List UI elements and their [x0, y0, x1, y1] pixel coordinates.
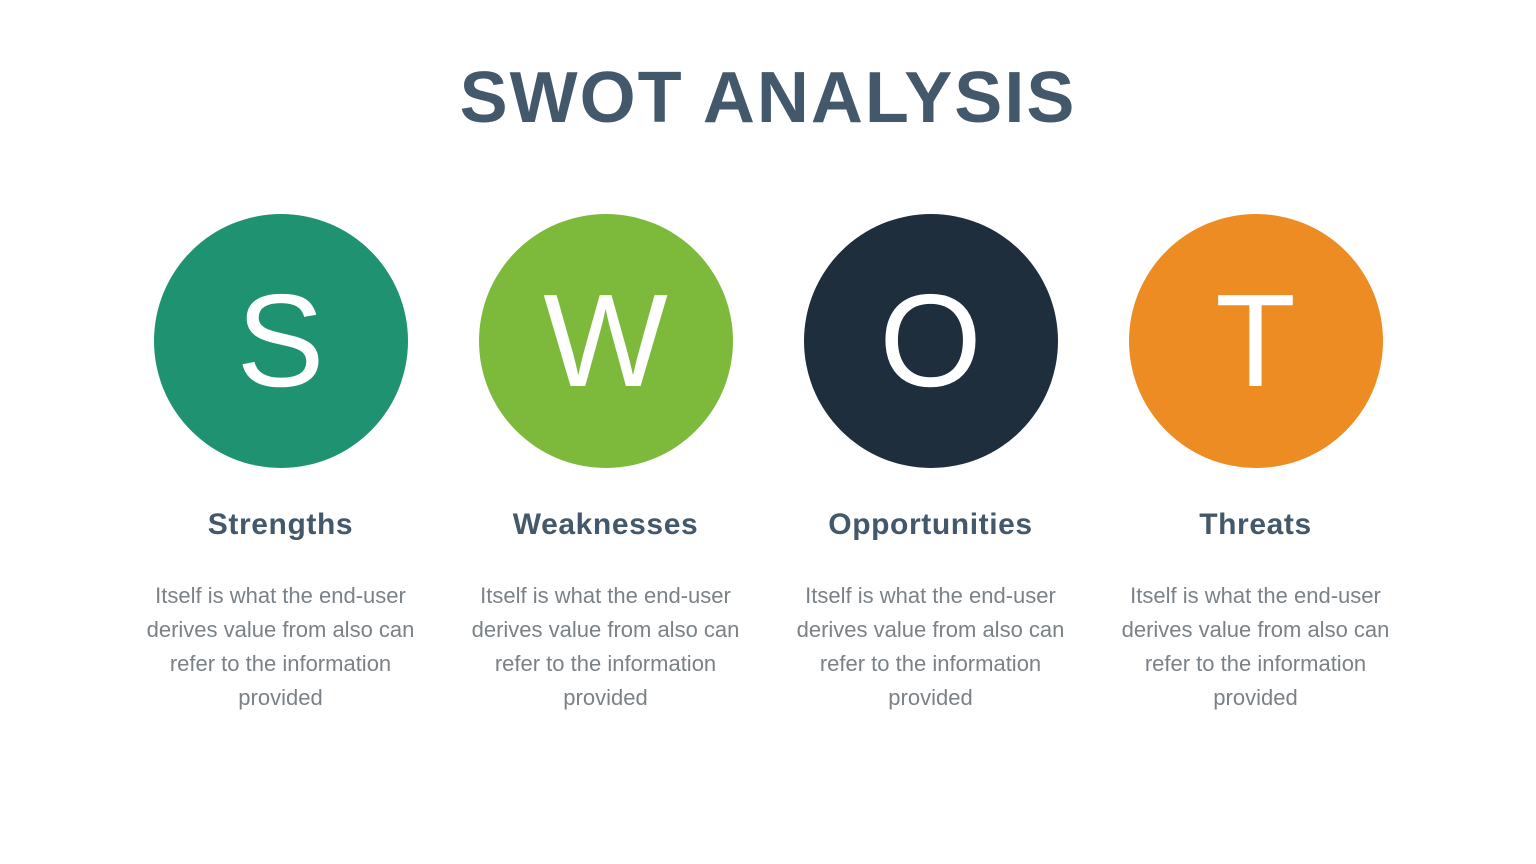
strengths-circle[interactable]: S	[154, 214, 408, 468]
threats-description: Itself is what the end-user derives valu…	[1106, 579, 1406, 715]
weaknesses-description: Itself is what the end-user derives valu…	[456, 579, 756, 715]
weaknesses-letter: W	[543, 275, 668, 407]
swot-columns: S Strengths Itself is what the end-user …	[118, 214, 1418, 715]
swot-column-opportunities[interactable]: O Opportunities Itself is what the end-u…	[768, 214, 1093, 715]
weaknesses-circle[interactable]: W	[479, 214, 733, 468]
opportunities-circle[interactable]: O	[804, 214, 1058, 468]
swot-column-weaknesses[interactable]: W Weaknesses Itself is what the end-user…	[443, 214, 768, 715]
opportunities-letter: O	[879, 275, 982, 407]
weaknesses-heading: Weaknesses	[513, 508, 699, 541]
page-title: SWOT ANALYSIS	[0, 62, 1536, 134]
swot-column-strengths[interactable]: S Strengths Itself is what the end-user …	[118, 214, 443, 715]
strengths-letter: S	[236, 275, 324, 407]
strengths-heading: Strengths	[208, 508, 353, 541]
opportunities-description: Itself is what the end-user derives valu…	[781, 579, 1081, 715]
threats-letter: T	[1215, 275, 1296, 407]
swot-analysis-slide: SWOT ANALYSIS S Strengths Itself is what…	[0, 0, 1536, 864]
opportunities-heading: Opportunities	[828, 508, 1032, 541]
swot-column-threats[interactable]: T Threats Itself is what the end-user de…	[1093, 214, 1418, 715]
threats-heading: Threats	[1199, 508, 1312, 541]
strengths-description: Itself is what the end-user derives valu…	[131, 579, 431, 715]
threats-circle[interactable]: T	[1129, 214, 1383, 468]
